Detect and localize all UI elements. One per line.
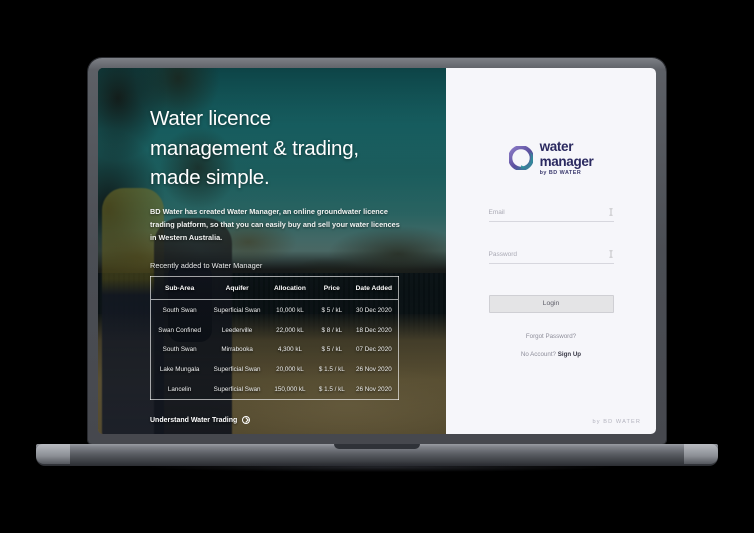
email-input[interactable]: [489, 209, 608, 216]
login-button[interactable]: Login: [489, 295, 614, 313]
column-header-aquifer: Aquifer: [208, 277, 266, 300]
table-row[interactable]: South Swan Mirrabooka 4,300 kL $ 5 / kL …: [151, 340, 399, 360]
hero-title-line-1: Water licence: [150, 107, 271, 130]
column-header-date-added: Date Added: [350, 277, 399, 300]
laptop-lid: Water licence management & trading, made…: [88, 58, 666, 444]
brand-logo: water manager by BD WATER: [509, 140, 594, 176]
cell-allocation: 10,000 kL: [266, 300, 314, 320]
cell-price: $ 1.5 / kL: [314, 380, 350, 400]
cell-price: $ 5 / kL: [314, 300, 350, 320]
hero-panel: Water licence management & trading, made…: [98, 68, 446, 434]
cell-date-added: 07 Dec 2020: [350, 340, 399, 360]
laptop-mockup: Water licence management & trading, made…: [0, 0, 754, 533]
table-caption: Recently added to Water Manager: [150, 261, 422, 270]
arrow-right-circle-icon: [242, 416, 250, 424]
panel-footer: by BD WATER: [593, 419, 641, 425]
brand-wordmark: water manager by BD WATER: [540, 140, 594, 176]
cell-price: $ 1.5 / kL: [314, 360, 350, 380]
cell-date-added: 30 Dec 2020: [350, 300, 399, 320]
cell-sub-area: Lancelin: [151, 380, 209, 400]
signup-row: No Account? Sign Up: [489, 351, 614, 358]
login-form: Login Forgot Password? No Account? Sign …: [489, 208, 614, 358]
column-header-sub-area: Sub-Area: [151, 277, 209, 300]
cell-sub-area: South Swan: [151, 300, 209, 320]
cell-sub-area: Swan Confined: [151, 320, 209, 340]
cell-date-added: 18 Dec 2020: [350, 320, 399, 340]
cell-sub-area: South Swan: [151, 340, 209, 360]
password-field-wrapper[interactable]: [489, 250, 614, 264]
cell-aquifer: Superficial Swan: [208, 360, 266, 380]
brand-word-water: water: [540, 140, 594, 154]
cell-date-added: 26 Nov 2020: [350, 360, 399, 380]
water-drop-circle-logo-icon: [509, 146, 533, 170]
text-cursor-icon: [608, 208, 614, 216]
page-title: Water licence management & trading, made…: [150, 104, 422, 193]
laptop-foot-left: [36, 444, 70, 464]
table-header-row: Sub-Area Aquifer Allocation Price Date A…: [151, 277, 399, 300]
hero-title-line-2: management & trading,: [150, 137, 359, 160]
password-input[interactable]: [489, 251, 608, 258]
signup-link[interactable]: Sign Up: [558, 351, 581, 358]
cell-allocation: 22,000 kL: [266, 320, 314, 340]
understand-water-trading-link[interactable]: Understand Water Trading: [150, 416, 250, 424]
cell-aquifer: Mirrabooka: [208, 340, 266, 360]
cell-date-added: 26 Nov 2020: [350, 380, 399, 400]
cell-aquifer: Superficial Swan: [208, 300, 266, 320]
hero-title-line-3: made simple.: [150, 166, 270, 189]
table-row[interactable]: Lancelin Superficial Swan 150,000 kL $ 1…: [151, 380, 399, 400]
cell-allocation: 20,000 kL: [266, 360, 314, 380]
laptop-foot-right: [684, 444, 718, 464]
column-header-allocation: Allocation: [266, 277, 314, 300]
cell-price: $ 5 / kL: [314, 340, 350, 360]
recent-licences-table: Sub-Area Aquifer Allocation Price Date A…: [150, 276, 399, 400]
login-panel: water manager by BD WATER: [446, 68, 656, 434]
cell-allocation: 150,000 kL: [266, 380, 314, 400]
laptop-shadow: [150, 462, 610, 472]
cell-price: $ 8 / kL: [314, 320, 350, 340]
cell-aquifer: Leederville: [208, 320, 266, 340]
table-row[interactable]: Swan Confined Leederville 22,000 kL $ 8 …: [151, 320, 399, 340]
email-field-wrapper[interactable]: [489, 208, 614, 222]
text-cursor-icon: [608, 250, 614, 258]
understand-water-trading-label: Understand Water Trading: [150, 417, 237, 424]
laptop-screen: Water licence management & trading, made…: [98, 68, 656, 434]
hero-content: Water licence management & trading, made…: [98, 68, 446, 424]
no-account-label: No Account?: [521, 351, 556, 358]
column-header-price: Price: [314, 277, 350, 300]
cell-allocation: 4,300 kL: [266, 340, 314, 360]
hero-subtitle: BD Water has created Water Manager, an o…: [150, 206, 402, 244]
forgot-password-link[interactable]: Forgot Password?: [489, 333, 614, 340]
brand-word-manager: manager: [540, 155, 594, 169]
table-row[interactable]: Lake Mungala Superficial Swan 20,000 kL …: [151, 360, 399, 380]
cell-sub-area: Lake Mungala: [151, 360, 209, 380]
table-row[interactable]: South Swan Superficial Swan 10,000 kL $ …: [151, 300, 399, 320]
brand-tagline: by BD WATER: [540, 171, 594, 176]
cell-aquifer: Superficial Swan: [208, 380, 266, 400]
